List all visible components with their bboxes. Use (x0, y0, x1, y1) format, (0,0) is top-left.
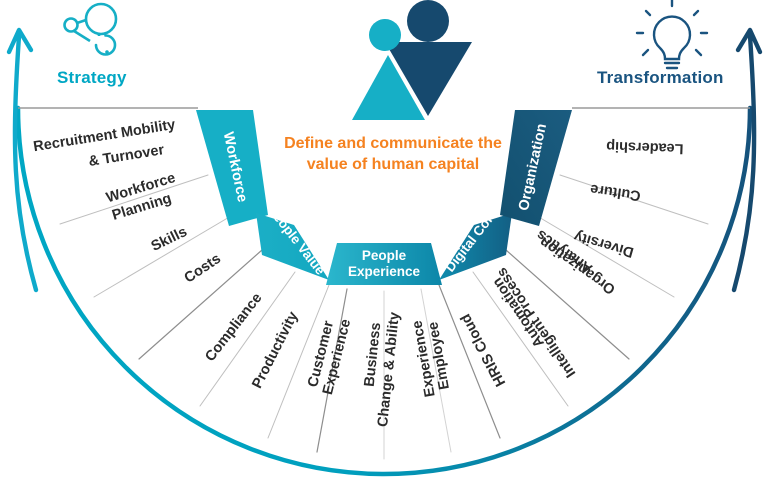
outer-label-culture[interactable]: Culture (589, 181, 641, 204)
outer-label-line1: Leadership (606, 138, 684, 157)
outer-label-intelligent-process-automation[interactable]: Intelligent Process Automation (490, 264, 580, 380)
outer-label-line1: Productivity (249, 309, 301, 391)
outer-label-employee-experience[interactable]: Employee Experience (409, 319, 452, 398)
inner-segment-label-line1: People (362, 248, 407, 263)
two-people-icon (352, 0, 472, 120)
outer-label-line1: Costs (182, 251, 224, 287)
center-message: Define and communicate the value of huma… (278, 133, 508, 175)
person-front-head-icon (369, 19, 401, 51)
outer-label-business-change-ability[interactable]: Business Change & Ability (362, 311, 403, 428)
inner-segment-people-experience[interactable]: People Experience (326, 243, 442, 285)
outer-label-leadership[interactable]: Leadership (606, 138, 684, 157)
inner-segment-organization[interactable]: Organization (500, 110, 572, 226)
inner-segment-people-value[interactable]: People Value (256, 203, 329, 280)
outer-label-costs[interactable]: Costs (182, 251, 224, 287)
outer-label-customer-experience[interactable]: Customer Experience (305, 318, 354, 397)
outer-label-skills[interactable]: Skills (149, 224, 190, 255)
lightbulb-icon (637, 0, 707, 68)
outer-label-line2: & Turnover (87, 142, 165, 170)
outer-label-productivity[interactable]: Productivity (249, 309, 301, 391)
outer-label-recruitment-mobility-turnover[interactable]: Recruitment Mobility & Turnover (32, 117, 176, 170)
person-back-head-icon (407, 0, 449, 42)
transformation-label: Transformation (597, 68, 724, 88)
outer-label-line1: Skills (149, 224, 190, 255)
diagram-canvas: Workforce People Value People Experience… (0, 0, 768, 498)
inner-segment-label-line2: Experience (348, 264, 421, 279)
network-nodes-icon (65, 4, 117, 55)
strategy-label: Strategy (57, 68, 127, 88)
inner-segment-workforce[interactable]: Workforce (196, 110, 268, 226)
outer-label-line1: Culture (589, 181, 641, 204)
